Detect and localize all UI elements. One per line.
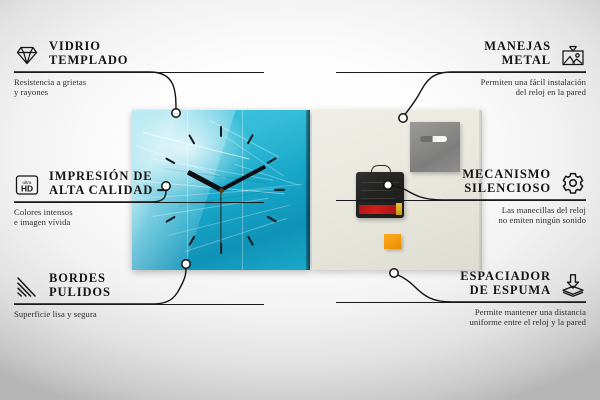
feature-manejas-metal[interactable]: MANEJAS METAL Permiten una fácil instala…: [336, 40, 586, 97]
clock-front-edge: [306, 110, 310, 270]
gear-icon: [560, 171, 586, 195]
feature-impresion-alta-calidad[interactable]: ultra HD IMPRESIÓN DE ALTA CALIDAD Color…: [14, 170, 264, 227]
feature-description: Las manecillas del reloj no emiten ningú…: [336, 205, 586, 226]
feature-title: BORDES PULIDOS: [49, 272, 111, 299]
feature-rule: [14, 304, 264, 305]
feature-rule: [336, 302, 586, 303]
feature-description: Permite mantener una distancia uniforme …: [336, 307, 586, 328]
feature-rule: [336, 200, 586, 201]
hanger-slot: [420, 136, 447, 142]
feature-head: BORDES PULIDOS: [14, 272, 264, 301]
feature-head: VIDRIO TEMPLADO: [14, 40, 264, 69]
feature-vidrio-templado[interactable]: VIDRIO TEMPLADO Resistencia a grietas y …: [14, 40, 264, 97]
feature-bordes-pulidos[interactable]: BORDES PULIDOS Superficie lisa y segura: [14, 272, 264, 319]
diamond-icon: [14, 43, 40, 67]
feature-head: ESPACIADOR DE ESPUMA: [336, 270, 586, 299]
metal-hanger-part: [410, 122, 460, 172]
foam-spacer-part: [384, 234, 401, 249]
infographic-canvas: VIDRIO TEMPLADO Resistencia a grietas y …: [0, 0, 600, 400]
feature-head: MANEJAS METAL: [336, 40, 586, 69]
feature-head: MECANISMO SILENCIOSO: [336, 168, 586, 197]
foam-spacer-icon: [560, 273, 586, 297]
ultra-hd-icon: ultra HD: [14, 173, 40, 197]
polished-edge-icon: [14, 275, 40, 299]
feature-title: MANEJAS METAL: [484, 40, 551, 67]
feature-description: Permiten una fácil instalación del reloj…: [336, 77, 586, 98]
feature-title: MECANISMO SILENCIOSO: [462, 168, 551, 195]
feature-description: Resistencia a grietas y rayones: [14, 77, 264, 98]
picture-hanger-icon: [560, 43, 586, 67]
feature-rule: [14, 72, 264, 73]
feature-head: ultra HD IMPRESIÓN DE ALTA CALIDAD: [14, 170, 264, 199]
feature-title: ESPACIADOR DE ESPUMA: [460, 270, 551, 297]
feature-description: Colores intensos e imagen vívida: [14, 207, 264, 228]
feature-title: VIDRIO TEMPLADO: [49, 40, 128, 67]
feature-rule: [336, 72, 586, 73]
svg-text:HD: HD: [21, 184, 33, 194]
feature-mecanismo-silencioso[interactable]: MECANISMO SILENCIOSO Las manecillas del …: [336, 168, 586, 225]
feature-rule: [14, 202, 264, 203]
feature-espaciador-espuma[interactable]: ESPACIADOR DE ESPUMA Permite mantener un…: [336, 270, 586, 327]
feature-title: IMPRESIÓN DE ALTA CALIDAD: [49, 170, 153, 197]
feature-description: Superficie lisa y segura: [14, 309, 264, 319]
